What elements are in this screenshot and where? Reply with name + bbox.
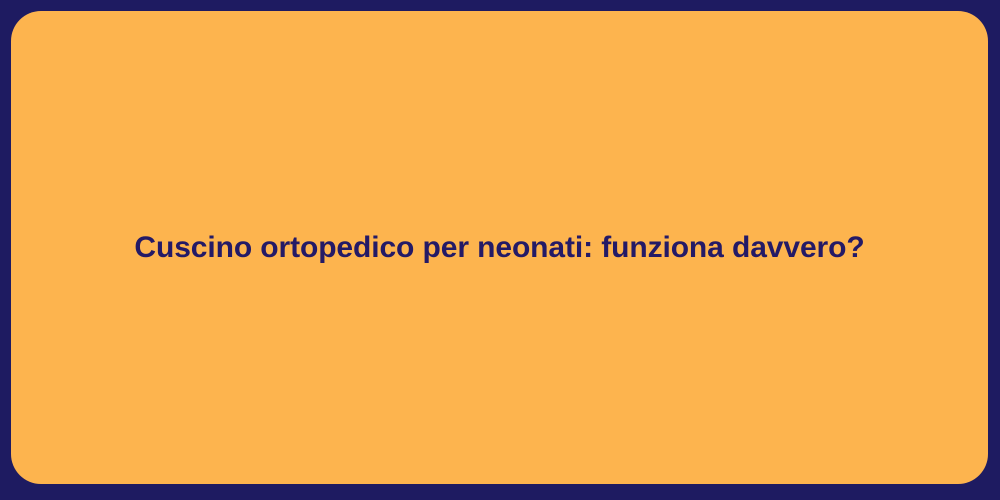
headline-text: Cuscino ortopedico per neonati: funziona… [94,229,904,267]
content-card: Cuscino ortopedico per neonati: funziona… [11,11,988,484]
banner-root: Cuscino ortopedico per neonati: funziona… [0,0,1000,500]
